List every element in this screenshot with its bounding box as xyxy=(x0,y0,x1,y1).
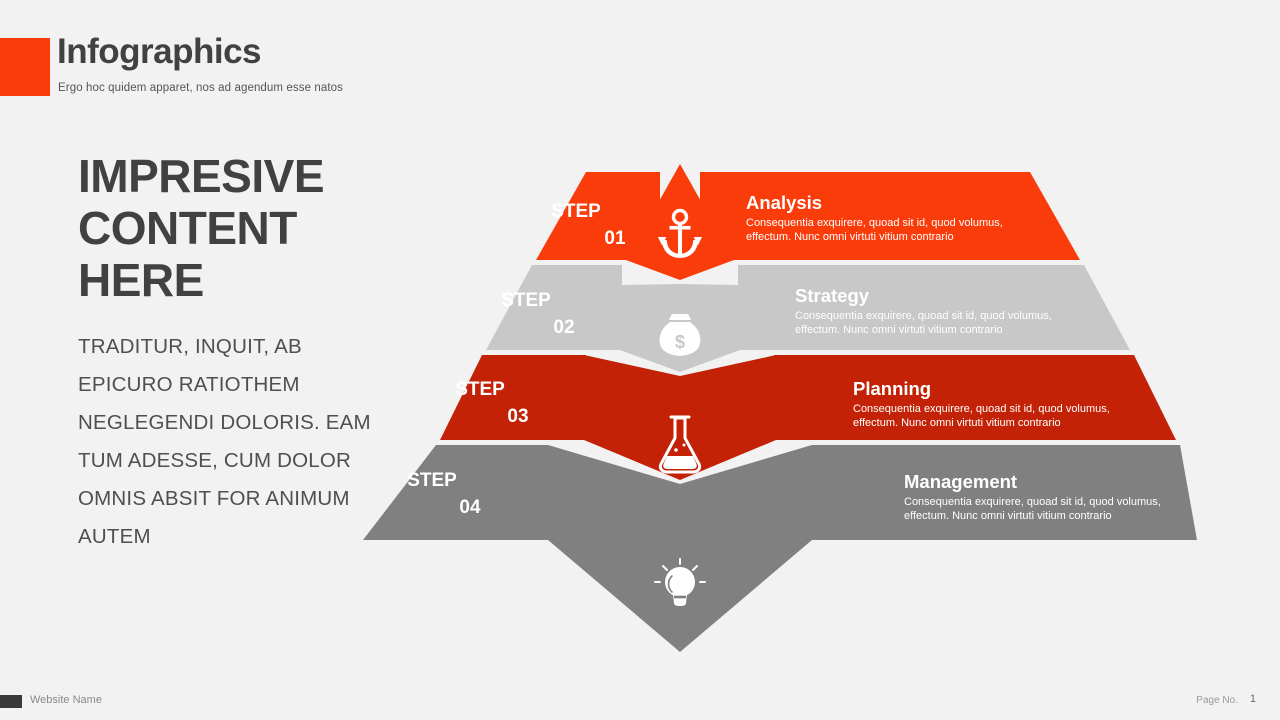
level-4-heading: Management xyxy=(904,471,1017,492)
level-1-heading: Analysis xyxy=(746,192,822,213)
level-2-right-wing xyxy=(738,265,1130,350)
level-3-step-number: 03 xyxy=(507,406,528,427)
level-4-step-number: 04 xyxy=(459,497,481,518)
level-4-desc-line-2: effectum. Nunc omni virtuti vitium contr… xyxy=(904,510,1112,522)
level-3-desc-line-2: effectum. Nunc omni virtuti vitium contr… xyxy=(853,417,1061,429)
page-subtitle: Ergo hoc quidem apparet, nos ad agendum … xyxy=(58,82,343,94)
footer-page-label: Page No. xyxy=(1196,695,1238,706)
level-4-desc-line-1: Consequentia exquirere, quoad sit id, qu… xyxy=(904,496,1161,508)
headline-line-3: HERE xyxy=(78,254,204,306)
footer-website-name: Website Name xyxy=(30,694,102,706)
level-3-heading: Planning xyxy=(853,378,931,399)
level-1-desc-line-2: effectum. Nunc omni virtuti vitium contr… xyxy=(746,231,954,243)
pyramid-diagram: STEP 01 Analysis Consequentia exquirere,… xyxy=(340,150,1220,670)
level-1-right-wing xyxy=(700,172,1080,260)
pyramid-level-1[interactable]: STEP 01 Analysis Consequentia exquirere,… xyxy=(536,164,1080,280)
level-3-step-label: STEP xyxy=(455,379,505,400)
headline: IMPRESIVE CONTENT HERE xyxy=(78,150,378,306)
slide-header: Infographics Ergo hoc quidem apparet, no… xyxy=(0,38,1280,98)
header-accent-block xyxy=(0,38,50,96)
headline-line-2: CONTENT xyxy=(78,202,297,254)
level-4-left-wing xyxy=(363,445,548,540)
pyramid-level-4[interactable]: STEP 04 Management Consequentia exquirer… xyxy=(363,445,1197,652)
level-2-heading: Strategy xyxy=(795,285,870,306)
level-3-desc-line-1: Consequentia exquirere, quoad sit id, qu… xyxy=(853,403,1110,415)
level-1-desc-line-1: Consequentia exquirere, quoad sit id, qu… xyxy=(746,217,1003,229)
level-4-step-label: STEP xyxy=(407,470,457,491)
footer-logo-mark xyxy=(0,695,22,708)
level-2-desc-line-1: Consequentia exquirere, quoad sit id, qu… xyxy=(795,310,1052,322)
level-2-step-label: STEP xyxy=(501,290,551,311)
headline-line-1: IMPRESIVE xyxy=(78,150,324,202)
slide-footer: Website Name Page No. 1 xyxy=(0,686,1280,720)
svg-text:$: $ xyxy=(675,332,685,352)
level-2-desc-line-2: effectum. Nunc omni virtuti vitium contr… xyxy=(795,324,1003,336)
page-title: Infographics xyxy=(57,32,261,72)
level-1-step-number: 01 xyxy=(604,228,626,249)
level-1-step-label: STEP xyxy=(551,201,601,222)
footer-page-number: 1 xyxy=(1250,693,1256,705)
level-2-step-number: 02 xyxy=(553,317,574,338)
body-paragraph: TRADITUR, INQUIT, AB EPICURO RATIOTHEM N… xyxy=(78,328,378,556)
level-4-right-wing xyxy=(812,445,1197,540)
left-content-column: IMPRESIVE CONTENT HERE TRADITUR, INQUIT,… xyxy=(78,150,378,556)
